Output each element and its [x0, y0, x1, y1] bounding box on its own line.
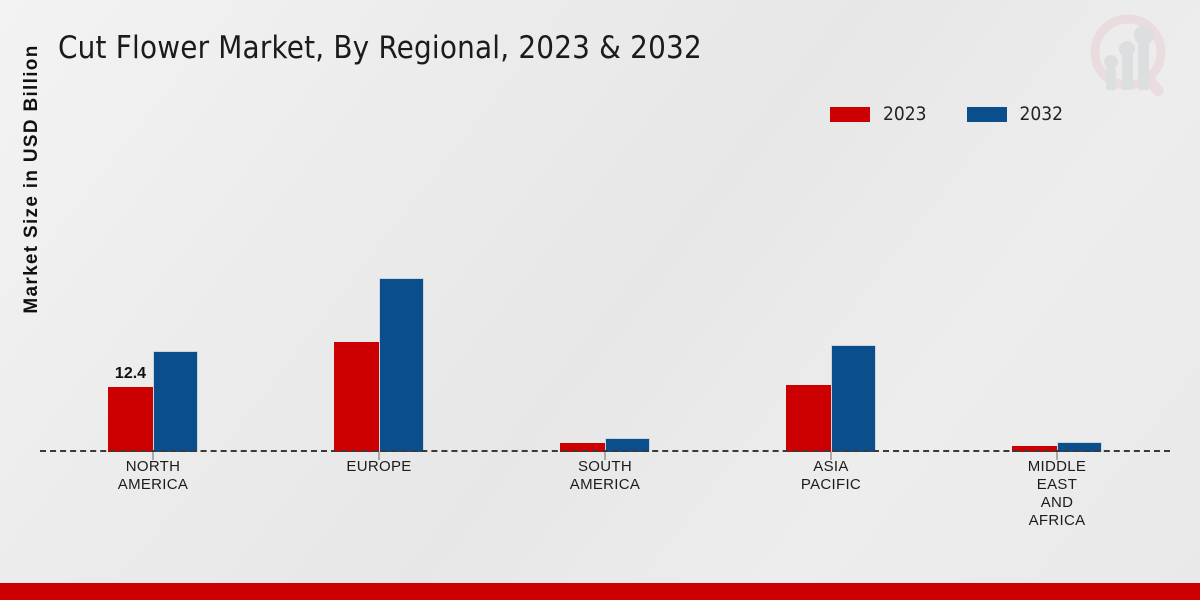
x-label-line: SOUTH [492, 458, 718, 476]
bars [786, 345, 876, 452]
bar-group-europe [266, 100, 492, 452]
x-label-line: MIDDLE [944, 458, 1170, 476]
bars: 12.4 [108, 351, 198, 452]
footer-accent-bar [0, 583, 1200, 600]
bar-2032-europe[interactable] [379, 278, 424, 452]
bars [334, 278, 424, 452]
bar-2023-asia-pacific[interactable] [786, 385, 831, 452]
bar-group-north-america: 12.4 [40, 100, 266, 452]
x-label-line: AMERICA [40, 476, 266, 494]
x-label-line: ASIA [718, 458, 944, 476]
bar-groups: 12.4 [40, 100, 1170, 452]
bar-value-label: 12.4 [115, 365, 146, 383]
bar-2032-north-america[interactable] [153, 351, 198, 452]
chart-title: Cut Flower Market, By Regional, 2023 & 2… [58, 30, 702, 66]
x-label-middle-east-and-africa: MIDDLE EAST AND AFRICA [944, 458, 1170, 530]
bar-2023-north-america[interactable]: 12.4 [108, 387, 153, 452]
x-label-line: EAST [944, 476, 1170, 494]
magnifier-bar-chart-logo-watermark-icon [1078, 8, 1182, 104]
chart-canvas: Cut Flower Market, By Regional, 2023 & 2… [0, 0, 1200, 600]
bar-group-middle-east-and-africa [944, 100, 1170, 452]
bar-group-south-america [492, 100, 718, 452]
x-label-line: EUROPE [266, 458, 492, 476]
x-label-south-america: SOUTH AMERICA [492, 458, 718, 530]
bar-2023-europe[interactable] [334, 342, 379, 452]
x-label-asia-pacific: ASIA PACIFIC [718, 458, 944, 530]
x-label-line: PACIFIC [718, 476, 944, 494]
x-label-line: AMERICA [492, 476, 718, 494]
x-label-line: AND [944, 494, 1170, 512]
x-axis-labels: NORTH AMERICA EUROPE SOUTH AMERICA ASIA … [40, 458, 1170, 530]
x-label-line: AFRICA [944, 512, 1170, 530]
bar-group-asia-pacific [718, 100, 944, 452]
plot-area: 12.4 [40, 100, 1170, 452]
bar-2032-asia-pacific[interactable] [831, 345, 876, 452]
x-label-north-america: NORTH AMERICA [40, 458, 266, 530]
x-label-line: NORTH [40, 458, 266, 476]
x-label-europe: EUROPE [266, 458, 492, 530]
axis-baseline [40, 450, 1170, 452]
